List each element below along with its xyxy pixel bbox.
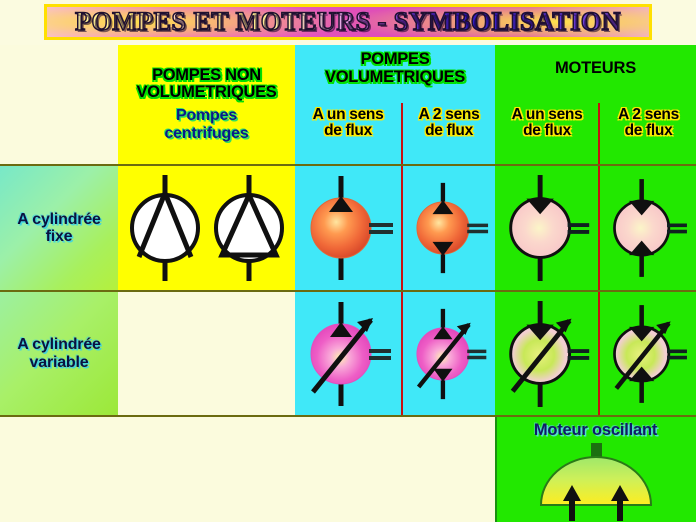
row-label-variable-line1: A cylindrée	[17, 336, 100, 353]
divider-row2-moteurs	[598, 292, 600, 415]
header-pv-line1: POMPES	[295, 51, 495, 69]
cell-motor-fixed-2way	[600, 166, 696, 290]
header-mot-sub1-line1: A un sens	[495, 107, 599, 123]
pump-fixed-one-direction-symbol	[295, 168, 401, 288]
motor-variable-two-direction-symbol	[600, 294, 696, 414]
page-title: POMPES ET MOTEURS - SYMBOLISATION	[75, 7, 621, 37]
divider-row1-pv	[401, 166, 403, 290]
header-moteurs-line1: MOTEURS	[495, 59, 696, 77]
motor-variable-one-direction-symbol	[495, 294, 599, 414]
header-pv-line2: VOLUMETRIQUES	[295, 69, 495, 87]
header-pnv-line1: POMPES NON	[152, 67, 261, 85]
divider-row2-pv	[401, 292, 403, 415]
header-pv-sub1-line1: A un sens	[295, 107, 401, 123]
cell-volumetric-variable-1way	[295, 292, 401, 415]
footer-blank-area	[0, 417, 495, 522]
header-mot-sub2-line2: de flux	[601, 123, 696, 139]
header-pnv-line2: VOLUMETRIQUES	[136, 84, 276, 102]
pump-fixed-two-direction-symbol	[403, 168, 495, 288]
page-title-banner: POMPES ET MOTEURS - SYMBOLISATION	[44, 4, 652, 40]
cell-motor-variable-1way	[495, 292, 599, 415]
pump-centrifugal-triangle-symbol	[207, 169, 291, 287]
cell-motor-variable-2way	[600, 292, 696, 415]
header-pnv-sub1: Pompes	[176, 107, 237, 125]
row-label-cylindree-fixe: A cylindrée fixe	[0, 166, 118, 290]
row-label-variable-line2: variable	[30, 354, 89, 371]
table-corner-blank	[0, 45, 118, 164]
header-pv-sub2-line1: A 2 sens	[403, 107, 495, 123]
cell-motor-fixed-1way	[495, 166, 599, 290]
cell-nonvolumetric-variable-empty	[118, 292, 295, 415]
cell-moteur-oscillant: Moteur oscillant	[495, 417, 696, 522]
row-label-fixe-line2: fixe	[46, 228, 73, 245]
motor-fixed-two-direction-symbol	[600, 168, 696, 288]
header-pompes-volumetriques: POMPES VOLUMETRIQUES A un sens de flux A…	[295, 45, 495, 164]
header-mot-sub2-line1: A 2 sens	[601, 107, 696, 123]
pump-centrifugal-open-cone-symbol	[123, 169, 207, 287]
cell-nonvolumetric-fixed	[118, 166, 295, 290]
moteur-oscillant-label: Moteur oscillant	[495, 421, 696, 439]
divider-moteurs-subcolumns	[598, 103, 600, 164]
symbol-chart-page: POMPES ET MOTEURS - SYMBOLISATION POMPES…	[0, 0, 696, 522]
divider-pv-subcolumns	[401, 103, 403, 164]
pump-variable-two-direction-symbol	[403, 294, 495, 414]
row-label-cylindree-variable: A cylindrée variable	[0, 292, 118, 415]
cell-volumetric-variable-2way	[403, 292, 495, 415]
header-pompes-non-volumetriques: POMPES NON VOLUMETRIQUES Pompes centrifu…	[118, 45, 295, 164]
divider-row1-moteurs	[598, 166, 600, 290]
cell-volumetric-fixed-1way	[295, 166, 401, 290]
header-moteurs: MOTEURS A un sens de flux A 2 sens de fl…	[495, 45, 696, 164]
oscillating-motor-symbol	[521, 443, 671, 521]
header-pv-sub1-line2: de flux	[295, 123, 401, 139]
pump-variable-one-direction-symbol	[295, 294, 401, 414]
motor-fixed-one-direction-symbol	[495, 168, 599, 288]
header-pv-sub2-line2: de flux	[403, 123, 495, 139]
divider-footer-left	[495, 417, 497, 522]
row-label-fixe-line1: A cylindrée	[17, 211, 100, 228]
cell-volumetric-fixed-2way	[403, 166, 495, 290]
header-mot-sub1-line2: de flux	[495, 123, 599, 139]
symbols-table: POMPES NON VOLUMETRIQUES Pompes centrifu…	[0, 45, 696, 522]
header-pnv-sub2: centrifuges	[164, 125, 248, 143]
